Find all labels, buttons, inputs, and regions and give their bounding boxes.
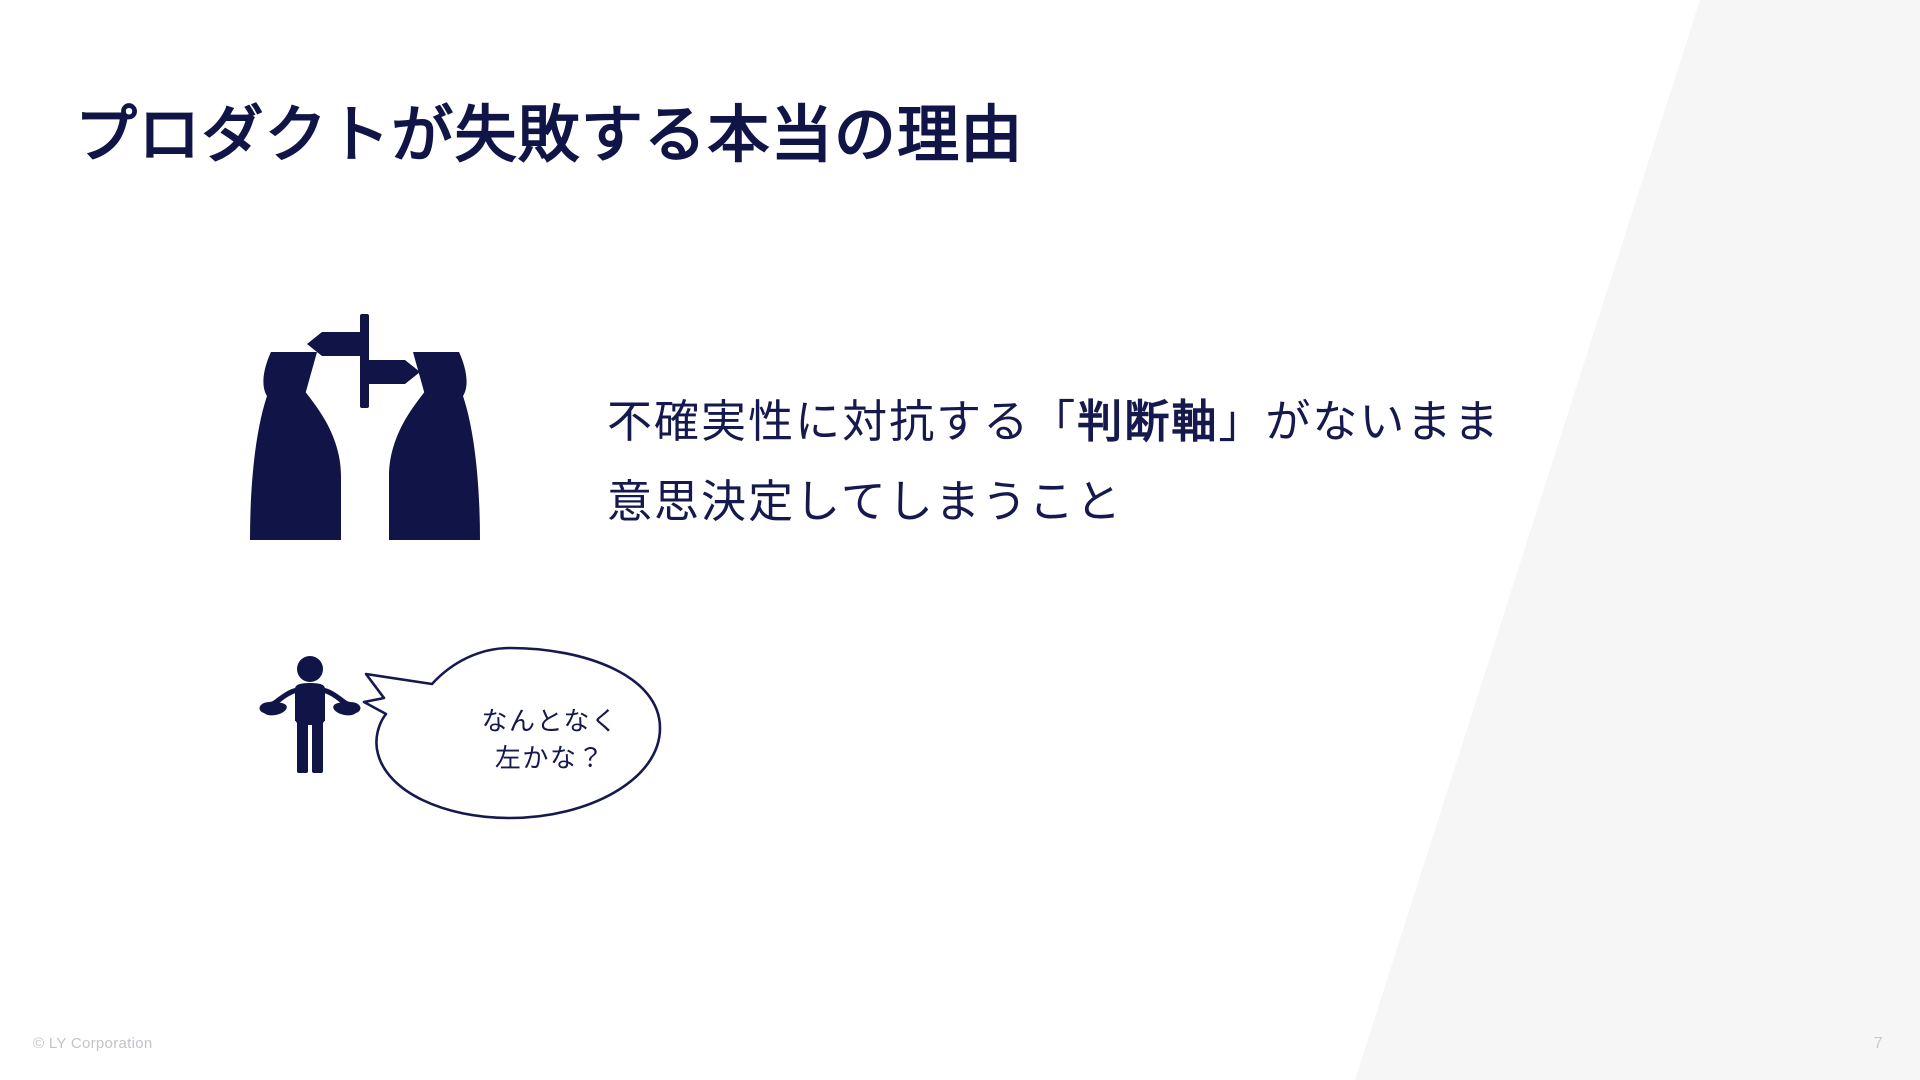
footer-copyright: © LY Corporation xyxy=(33,1035,153,1052)
page-number: 7 xyxy=(1874,1035,1883,1053)
body-line-1-suffix: 」がないまま xyxy=(1218,396,1500,447)
body-line-1-prefix: 不確実性に対抗する「 xyxy=(607,396,1077,447)
body-copy: 不確実性に対抗する「判断軸」がないまま 意思決定してしまうこと xyxy=(607,382,1837,542)
speech-bubble-text: なんとなく 左かな？ xyxy=(430,703,670,777)
slide-canvas: プロダクトが失敗する本当の理由 xyxy=(0,0,1920,1080)
body-line-1: 不確実性に対抗する「判断軸」がないまま xyxy=(607,382,1837,462)
forked-road-with-signpost-icon xyxy=(245,300,485,540)
body-line-2: 意思決定してしまうこと xyxy=(607,462,1837,542)
body-line-1-emphasis: 判断軸 xyxy=(1077,396,1218,447)
page-title: プロダクトが失敗する本当の理由 xyxy=(75,100,1024,171)
